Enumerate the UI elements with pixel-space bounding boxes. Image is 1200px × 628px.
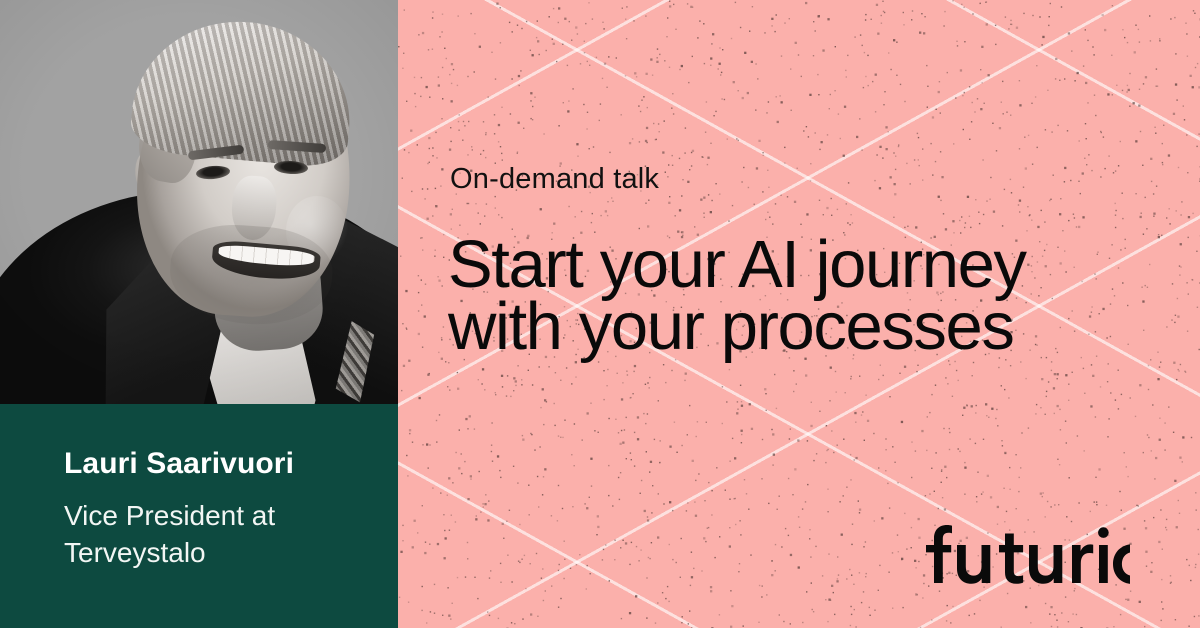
- content-panel: On-demand talk Start your AI journey wit…: [398, 0, 1200, 628]
- speaker-photo: [0, 0, 398, 410]
- speaker-role: Vice President at Terveystalo: [64, 497, 364, 571]
- headline-line-1: Start your AI journey: [448, 234, 1178, 296]
- headline: Start your AI journey with your processe…: [448, 234, 1178, 358]
- portrait-teeth: [218, 244, 315, 268]
- speaker-name: Lauri Saarivuori: [64, 447, 294, 481]
- speaker-panel: Lauri Saarivuori Vice President at Terve…: [0, 0, 398, 628]
- speaker-name-band: Lauri Saarivuori Vice President at Terve…: [0, 404, 398, 628]
- headline-line-2: with your processes: [448, 296, 1178, 358]
- eyebrow-label: On-demand talk: [450, 163, 659, 196]
- futurice-logo[interactable]: [924, 524, 1130, 584]
- promo-card: On-demand talk Start your AI journey wit…: [0, 0, 1200, 628]
